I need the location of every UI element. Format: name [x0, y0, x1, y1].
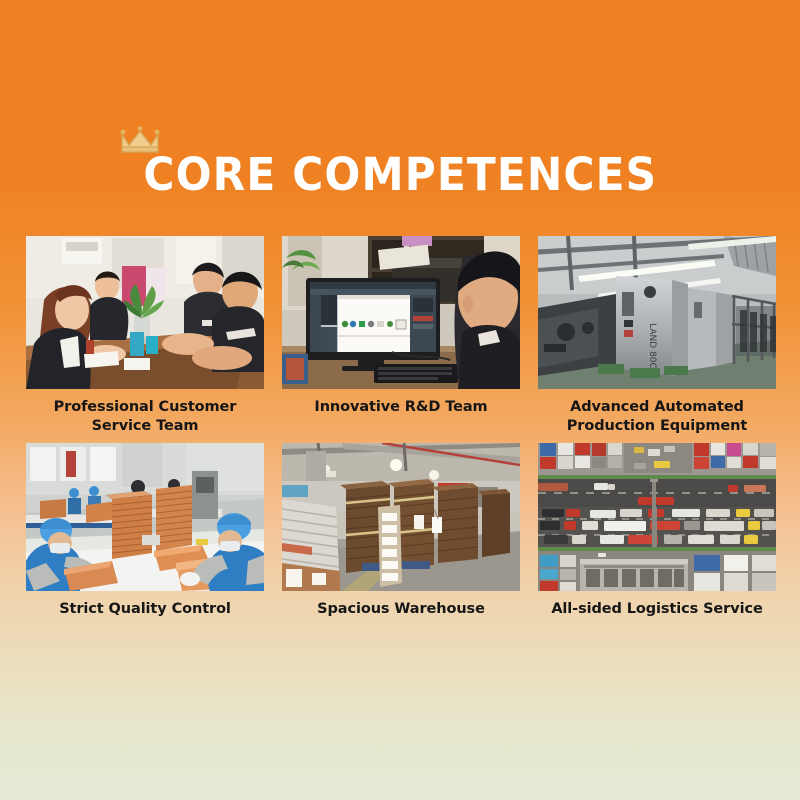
card-spacious-warehouse[interactable]: Spacious Warehouse: [282, 443, 520, 619]
card-image-printing-press: LAND 80C: [538, 236, 776, 389]
card-image-logistics-port: [538, 443, 776, 591]
card-innovative-rd-team[interactable]: Innovative R&D Team: [282, 236, 520, 435]
card-all-sided-logistics-service[interactable]: All-sided Logistics Service: [538, 443, 776, 619]
card-caption: Advanced Automated Production Equipment: [538, 398, 776, 435]
card-caption: Innovative R&D Team: [282, 398, 520, 417]
card-caption: Professional Customer Service Team: [26, 398, 264, 435]
caption-line-1: Strict Quality Control: [59, 601, 231, 617]
caption-line-1: All-sided Logistics Service: [551, 601, 762, 617]
card-image-quality-control: [26, 443, 264, 591]
card-caption: Strict Quality Control: [26, 600, 264, 619]
caption-line-2: Production Equipment: [567, 418, 747, 434]
svg-text:LAND 80C: LAND 80C: [647, 323, 657, 369]
page-header: CORE COMPETENCES: [0, 152, 800, 197]
caption-line-1: Spacious Warehouse: [317, 601, 485, 617]
card-caption: All-sided Logistics Service: [538, 600, 776, 619]
caption-line-1: Professional Customer: [54, 399, 237, 415]
caption-line-1: Innovative R&D Team: [314, 399, 487, 415]
card-image-office-meeting: [26, 236, 264, 389]
card-advanced-automated-production-equipment[interactable]: LAND 80C: [538, 236, 776, 435]
card-image-designer-workstation: [282, 236, 520, 389]
page-title: CORE COMPETENCES: [143, 152, 657, 197]
caption-line-1: Advanced Automated: [570, 399, 744, 415]
card-strict-quality-control[interactable]: Strict Quality Control: [26, 443, 264, 619]
card-professional-customer-service-team[interactable]: Professional Customer Service Team: [26, 236, 264, 435]
competences-grid: Professional Customer Service Team: [26, 236, 776, 619]
card-image-warehouse: [282, 443, 520, 591]
caption-line-2: Service Team: [92, 418, 199, 434]
card-caption: Spacious Warehouse: [282, 600, 520, 619]
